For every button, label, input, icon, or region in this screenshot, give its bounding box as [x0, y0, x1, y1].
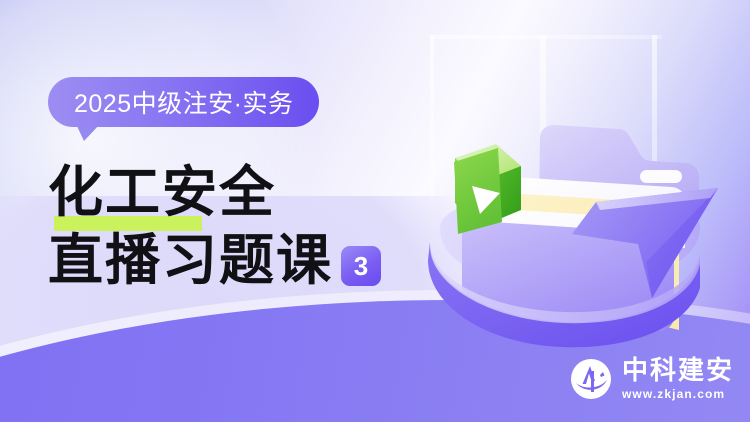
course-title-line-2: 直播习题课 3 [48, 226, 448, 294]
folder-illustration [400, 30, 740, 360]
course-category-badge: 2025中级注安·实务 [48, 77, 319, 127]
course-title-line-1: 化工安全 [48, 158, 448, 226]
zkjan-circle-logo-icon [570, 358, 612, 400]
course-title: 化工安全 直播习题课 3 [48, 158, 448, 294]
episode-number-badge: 3 [341, 246, 381, 286]
brand-logo: 中科建安 www.zkjan.com [570, 357, 734, 400]
brand-url: www.zkjan.com [622, 388, 725, 400]
brand-text: 中科建安 www.zkjan.com [622, 357, 734, 400]
headline-block: 2025中级注安·实务 化工安全 直播习题课 3 [0, 0, 440, 422]
brand-name: 中科建安 [622, 357, 734, 383]
course-promo-banner: 2025中级注安·实务 化工安全 直播习题课 3 中科建安 [0, 0, 750, 422]
